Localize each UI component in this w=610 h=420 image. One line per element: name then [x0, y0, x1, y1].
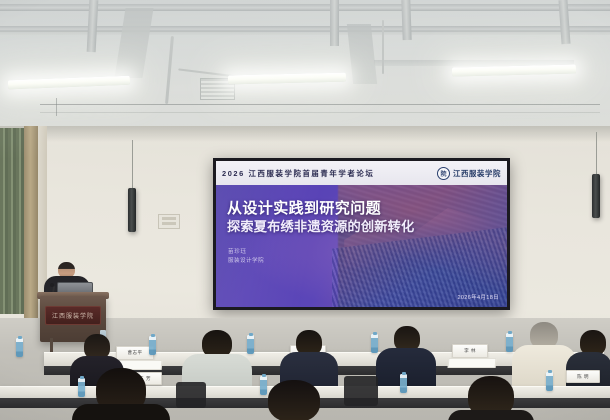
slide-header-bar: 2026 江西服装学院首届青年学者论坛 院 江西服装学院 [216, 161, 507, 185]
slide-subtitle: 探索夏布绣非遗资源的创新转化 [227, 216, 414, 235]
audience-body [72, 404, 170, 420]
lecture-hall-photo: 2026 江西服装学院首届青年学者论坛 院 江西服装学院 从设计实践到研究问题 … [0, 0, 610, 420]
ceiling-light-right [452, 64, 576, 76]
ceiling-light-left [8, 76, 130, 90]
slide-affiliation: 服装设计学院 [228, 256, 264, 264]
speaker-wire-right [596, 132, 597, 176]
chair-back [176, 382, 206, 408]
microphone-icon [50, 283, 54, 287]
slide-presenter-name: 苗珍珏 [228, 247, 247, 255]
water-bottle [400, 374, 407, 393]
university-logo: 院 江西服装学院 [437, 167, 501, 180]
water-bottle [506, 333, 513, 352]
chair-back [344, 376, 378, 406]
handout-paper [448, 358, 497, 368]
projection-screen: 2026 江西服装学院首届青年学者论坛 院 江西服装学院 从设计实践到研究问题 … [213, 158, 510, 310]
slide-date: 2026年4月18日 [457, 293, 499, 301]
hanging-speaker-left [128, 188, 136, 232]
left-curtain [0, 128, 26, 314]
wall-outlet-plate [158, 214, 180, 229]
audience-head [268, 380, 320, 420]
slide-main-title: 从设计实践到研究问题 [227, 197, 381, 218]
wall-top-shadow [0, 126, 610, 142]
audience-body [448, 410, 534, 420]
ceiling [0, 0, 610, 132]
water-bottle [78, 378, 85, 397]
university-name: 江西服装学院 [453, 168, 501, 179]
university-crest-icon: 院 [437, 167, 450, 180]
speaker-wire-left [132, 140, 133, 190]
name-placard: 陈 明 [566, 370, 600, 383]
water-bottle [16, 338, 23, 357]
water-bottle [247, 335, 254, 354]
water-bottle [149, 336, 156, 355]
forum-title: 2026 江西服装学院首届青年学者论坛 [222, 168, 374, 179]
podium-sign-text: 江西服装学院 [52, 311, 94, 320]
name-placard: 李 林 [452, 344, 488, 358]
hanging-speaker-right [592, 174, 600, 218]
water-bottle [371, 334, 378, 353]
slide-surface: 2026 江西服装学院首届青年学者论坛 院 江西服装学院 从设计实践到研究问题 … [216, 161, 507, 307]
podium-sign: 江西服装学院 [45, 306, 101, 325]
water-bottle [546, 372, 553, 391]
water-bottle [260, 376, 267, 395]
ceiling-light-center [228, 73, 346, 85]
